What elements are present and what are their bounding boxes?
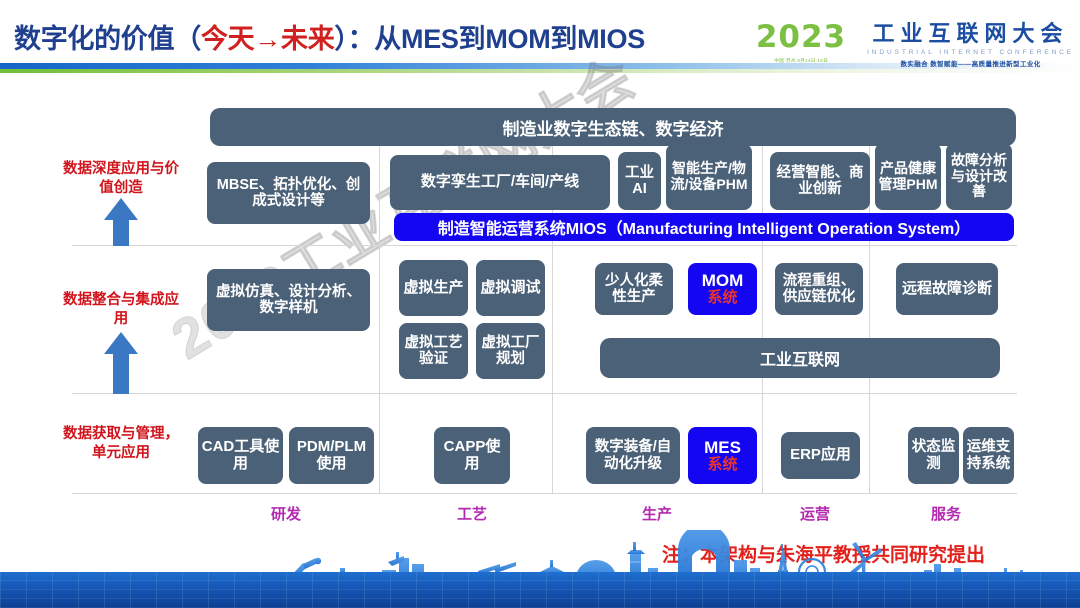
box-product-health-phm[interactable]: 产品健康管理PHM [875,143,941,210]
box-remote-fault-diagnosis[interactable]: 远程故障诊断 [896,263,998,315]
box-process-reengineering[interactable]: 流程重组、供应链优化 [775,263,863,315]
box-low-manpower-production[interactable]: 少人化柔性生产 [595,263,673,315]
title-part-pre: 数字化的价值（ [14,24,201,54]
axis-label-tier-top: 数据深度应用与价值创造 [56,160,186,198]
slide-root: 数字化的价值（今天→未来）：从MES到MOM到MIOS 2023 中国·苏州 8… [0,0,1080,608]
column-label-process: 工艺 [412,503,532,524]
axis-label-tier-bottom: 数据获取与管理，单元应用 [56,425,186,463]
logo-date: 中国·苏州 8月14日-15日 [758,57,844,64]
axis-label-tier-mid: 数据整合与集成应用 [56,291,186,329]
box-erp[interactable]: ERP应用 [781,432,860,479]
box-cad-tools[interactable]: CAD工具使用 [198,427,283,484]
box-mes-system[interactable]: MES 系统 [688,427,757,484]
box-mom-system[interactable]: MOM 系统 [688,263,757,315]
arrow-up-1 [104,198,138,246]
tier-separator-2 [72,393,1017,394]
box-virtual-production[interactable]: 虚拟生产 [399,260,468,316]
box-virtual-simulation[interactable]: 虚拟仿真、设计分析、数字样机 [207,269,370,331]
column-separator-1 [379,138,380,493]
box-business-intelligence[interactable]: 经营智能、商业创新 [770,152,870,210]
top-banner: 制造业数字生态链、数字经济 [210,108,1016,146]
box-virtual-process-verification[interactable]: 虚拟工艺验证 [399,323,468,379]
column-label-production: 生产 [597,503,717,524]
tier-separator-3 [72,493,1017,494]
box-virtual-commissioning[interactable]: 虚拟调试 [476,260,545,316]
logo-tagline: 数实融合 数智赋能——高质量推进新型工业化 [867,58,1074,68]
tier-separator-1 [72,245,1017,246]
box-digital-equipment[interactable]: 数字装备/自动化升级 [586,427,680,484]
title-part-highlight: 今天→未来 [201,24,335,54]
iiot-banner: 工业互联网 [600,338,1000,378]
box-industrial-ai[interactable]: 工业AI [618,152,661,210]
box-digital-twin-factory[interactable]: 数字孪生工厂/车间/产线 [390,155,610,210]
box-smart-production-phm[interactable]: 智能生产/物流/设备PHM [666,144,752,210]
box-virtual-factory-planning[interactable]: 虚拟工厂规划 [476,323,545,379]
arrow-up-2 [104,332,138,394]
conference-logo: 2023 中国·苏州 8月14日-15日 工业互联网大会 INDUSTRIAL … [756,22,1074,76]
logo-year-block: 2023 中国·苏州 8月14日-15日 [756,22,856,64]
box-ops-support[interactable]: 运维支持系统 [963,427,1014,484]
box-pdm-plm[interactable]: PDM/PLM使用 [289,427,374,484]
column-label-service: 服务 [886,503,1006,524]
architecture-diagram: 数据深度应用与价值创造 数据整合与集成应用 数据获取与管理，单元应用 制造业数字… [0,80,1080,530]
logo-name-cn: 工业互联网大会 [867,22,1074,46]
city-skyline-decoration [0,530,1080,608]
page-title: 数字化的价值（今天→未来）：从MES到MOM到MIOS [14,17,645,56]
column-separator-3 [762,138,763,493]
logo-name-block: 工业互联网大会 INDUSTRIAL INTERNET CONFERENCE 数… [857,22,1074,68]
mom-label-cn: 系统 [707,290,737,307]
mom-label-en: MOM [702,271,744,290]
title-part-post: ）：从MES到MOM到MIOS [334,24,645,54]
slide-header: 数字化的价值（今天→未来）：从MES到MOM到MIOS 2023 中国·苏州 8… [0,0,1080,80]
ground-grid-overlay [0,572,1080,608]
box-capp[interactable]: CAPP使用 [434,427,510,484]
mios-banner: 制造智能运营系统MIOS（Manufacturing Intelligent O… [394,213,1014,241]
column-label-operations: 运营 [760,503,870,524]
logo-name-en: INDUSTRIAL INTERNET CONFERENCE [867,49,1074,56]
logo-year: 2023 [756,22,846,52]
box-status-monitoring[interactable]: 状态监测 [908,427,959,484]
mes-label-en: MES [704,438,741,457]
column-label-rd: 研发 [226,503,346,524]
box-mbse[interactable]: MBSE、拓扑优化、创成式设计等 [207,162,370,224]
box-fault-analysis[interactable]: 故障分析与设计改善 [946,143,1012,210]
mes-label-cn: 系统 [707,457,737,474]
